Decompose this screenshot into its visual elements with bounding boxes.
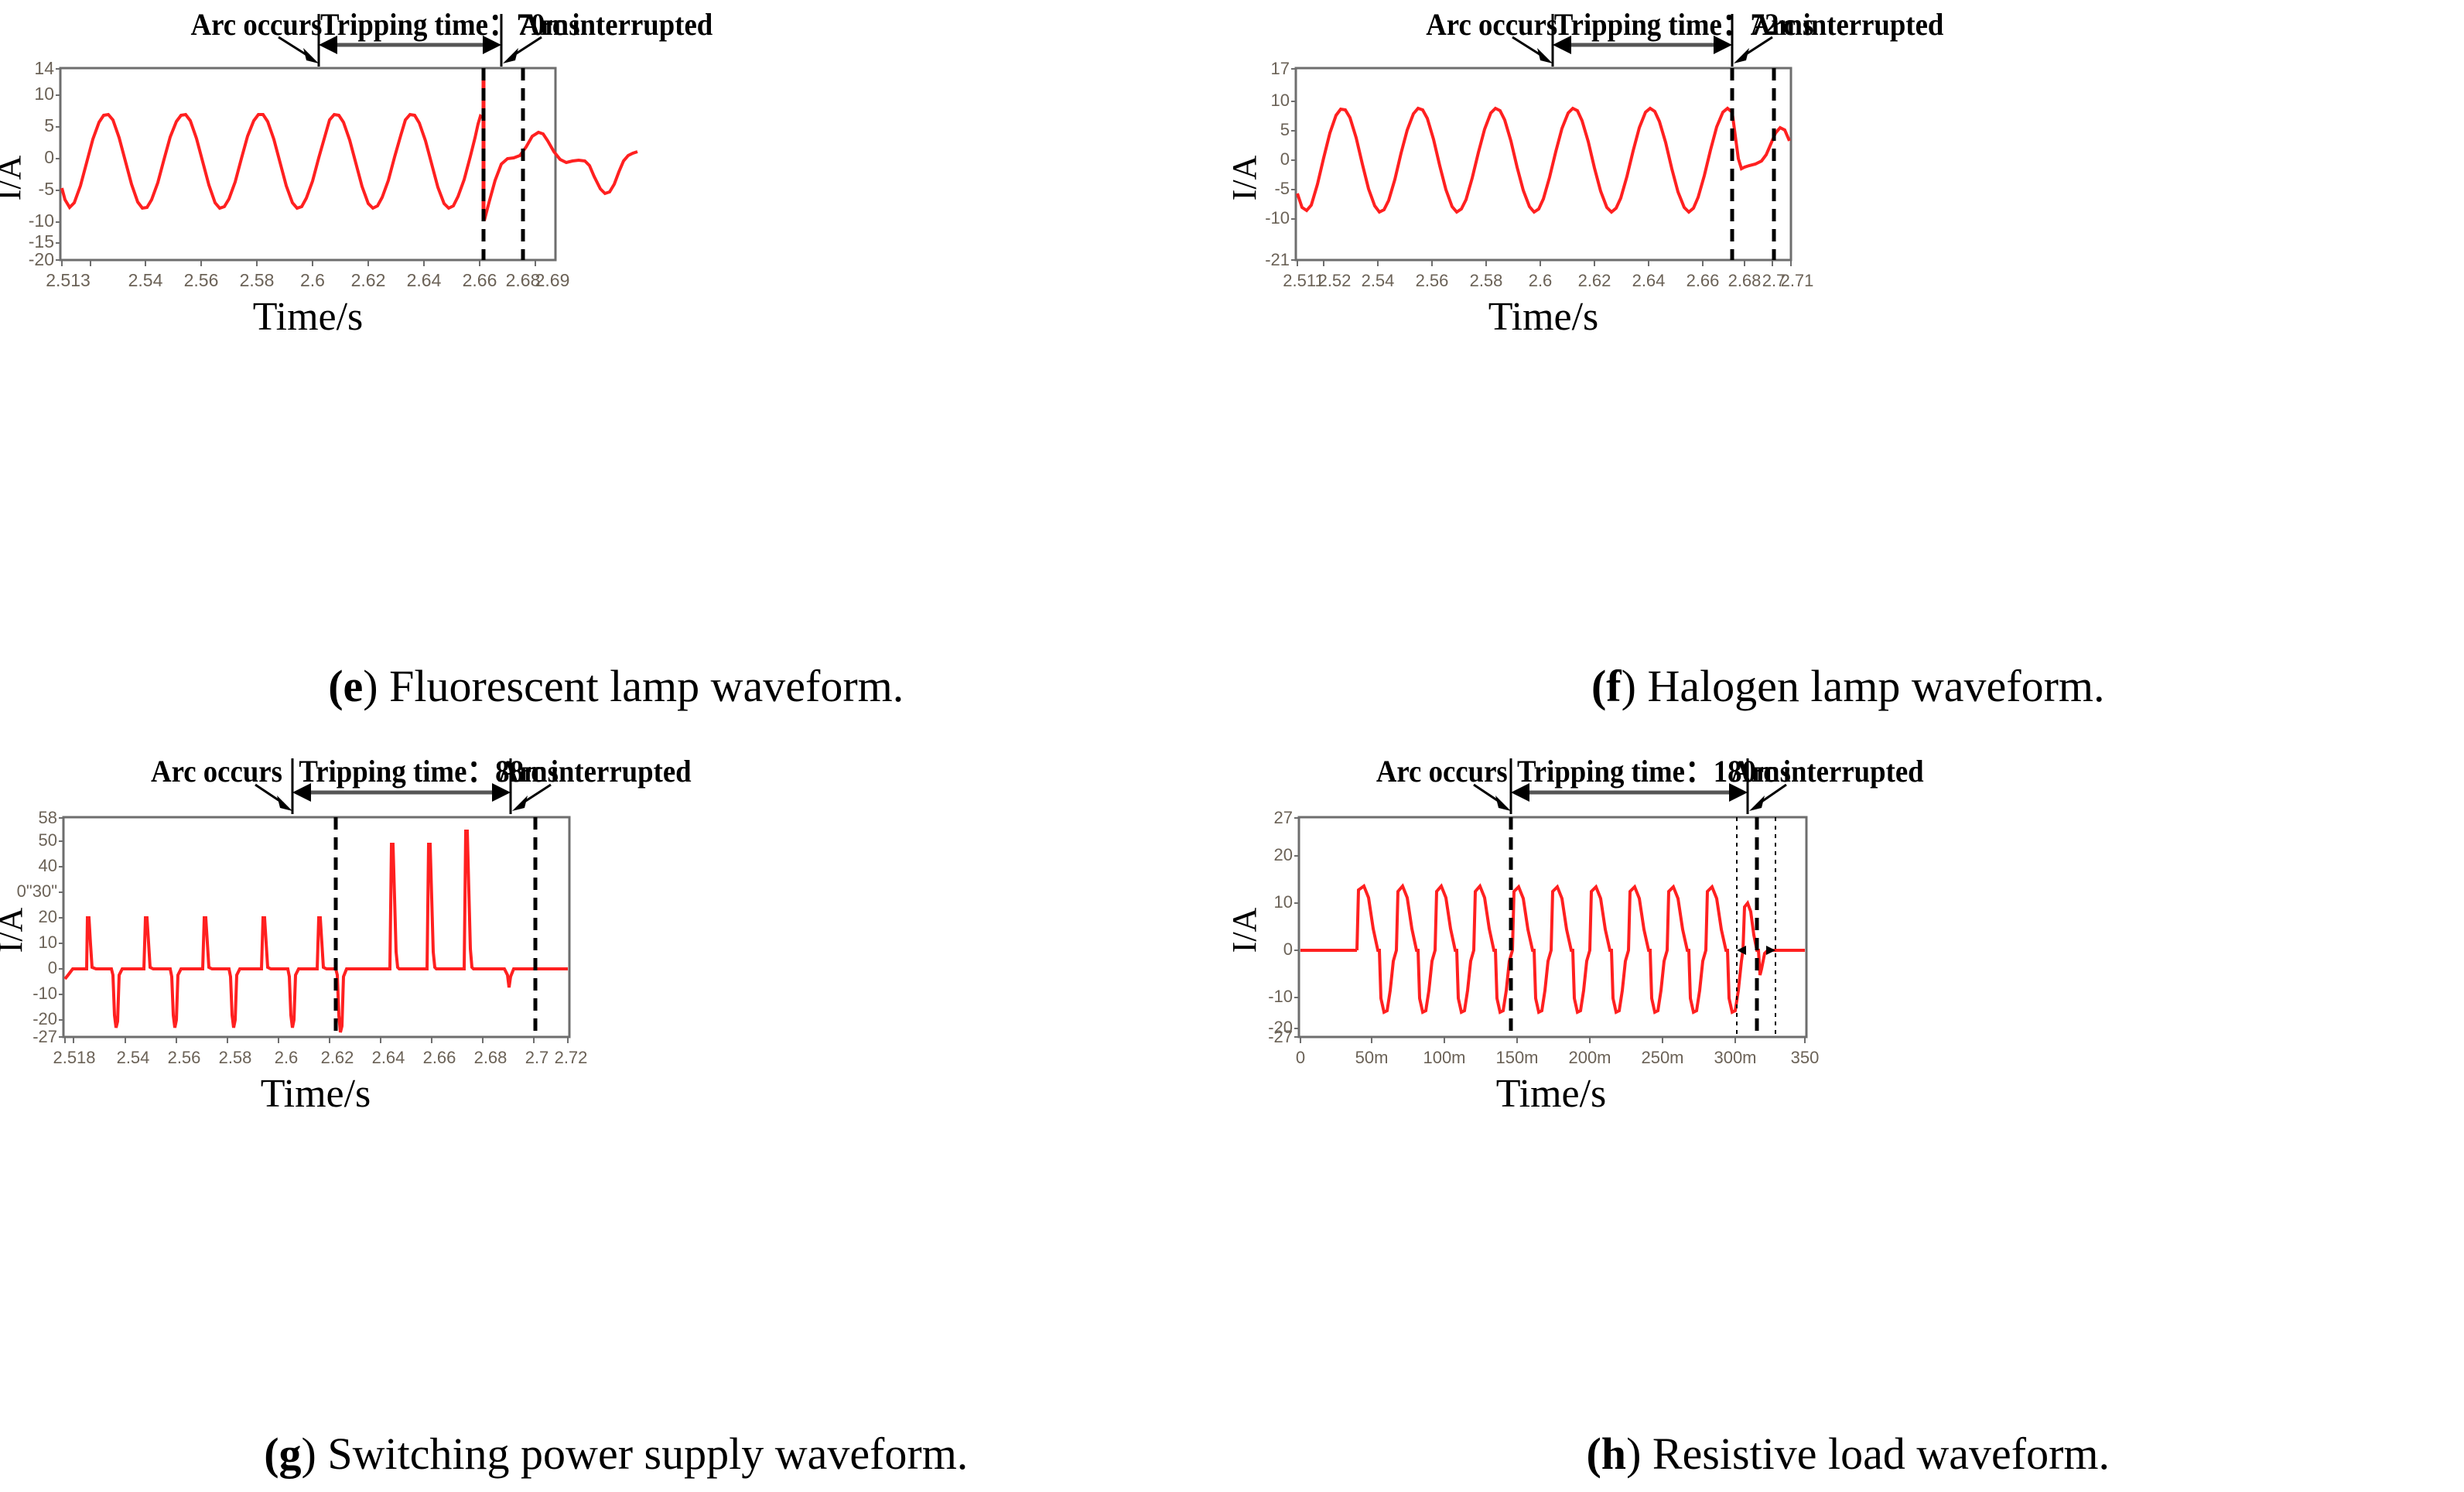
svg-text:-20: -20 bbox=[32, 1009, 57, 1028]
x-ticks-f: 2.5112.52 2.542.56 2.582.6 2.622.64 2.66… bbox=[1283, 271, 1813, 290]
svg-text:0"30": 0"30" bbox=[17, 881, 57, 901]
svg-text:2.64: 2.64 bbox=[1632, 271, 1665, 290]
svg-text:5: 5 bbox=[44, 115, 54, 135]
arc-occurs-arrowhead-g bbox=[277, 796, 292, 811]
svg-text:17: 17 bbox=[1270, 59, 1289, 78]
svg-text:-10: -10 bbox=[32, 984, 57, 1003]
svg-text:2.66: 2.66 bbox=[1686, 271, 1719, 290]
svg-text:0: 0 bbox=[1283, 939, 1292, 959]
plot-frame-g bbox=[63, 817, 569, 1037]
y-axis-label-g: I/A bbox=[0, 907, 29, 953]
x-axis-label-e: Time/s bbox=[253, 295, 364, 339]
svg-text:0: 0 bbox=[44, 147, 54, 167]
svg-text:2.62: 2.62 bbox=[351, 270, 386, 290]
panel-g-plot: Arc occurs Tripping time：88ms Arc interr… bbox=[0, 743, 1232, 1492]
caption-f: (f) Halogen lamp waveform. bbox=[1232, 660, 2464, 712]
svg-text:2.6: 2.6 bbox=[275, 1048, 299, 1067]
svg-text:2.6: 2.6 bbox=[300, 270, 325, 290]
svg-text:-27: -27 bbox=[1268, 1027, 1293, 1046]
y-axis-label-e: I/A bbox=[0, 155, 28, 200]
panel-e-plot: Arc occurs Tripping time：70ms Arc interr… bbox=[0, 0, 1232, 696]
y-axis-label-h: I/A bbox=[1232, 907, 1263, 953]
svg-text:2.58: 2.58 bbox=[1469, 271, 1502, 290]
svg-text:-10: -10 bbox=[1265, 208, 1290, 228]
svg-text:2.54: 2.54 bbox=[117, 1048, 150, 1067]
svg-text:-27: -27 bbox=[32, 1027, 57, 1046]
svg-text:2.68: 2.68 bbox=[474, 1048, 507, 1067]
arc-interrupted-arrowhead-g bbox=[512, 796, 528, 811]
arc-occurs-label-h: Arc occurs bbox=[1376, 755, 1507, 789]
svg-text:2.58: 2.58 bbox=[219, 1048, 252, 1067]
svg-text:2.66: 2.66 bbox=[423, 1048, 456, 1067]
arc-occurs-label-e: Arc occurs bbox=[191, 9, 323, 43]
waveform-trace-g bbox=[65, 831, 568, 1032]
caption-h: (h) Resistive load waveform. bbox=[1232, 1428, 2464, 1480]
svg-text:2.69: 2.69 bbox=[535, 270, 570, 290]
arc-occurs-arrowhead-f bbox=[1537, 48, 1553, 63]
svg-text:2.72: 2.72 bbox=[555, 1048, 588, 1067]
svg-text:-10: -10 bbox=[29, 210, 54, 231]
svg-text:300m: 300m bbox=[1714, 1048, 1756, 1067]
svg-text:2.68: 2.68 bbox=[1728, 271, 1761, 290]
panel-e: Arc occurs Tripping time：70ms Arc interr… bbox=[0, 0, 1232, 743]
arc-interrupted-label-h: Arc interrupted bbox=[1731, 755, 1924, 789]
panel-f: Arc occurs Tripping time：72ms Arc interr… bbox=[1232, 0, 2464, 743]
svg-text:5: 5 bbox=[1280, 120, 1289, 139]
svg-text:200m: 200m bbox=[1568, 1048, 1611, 1067]
svg-text:2.62: 2.62 bbox=[321, 1048, 354, 1067]
svg-text:14: 14 bbox=[34, 58, 54, 78]
arc-occurs-arrowhead-h bbox=[1495, 796, 1511, 811]
svg-text:2.7: 2.7 bbox=[525, 1048, 549, 1067]
svg-text:40: 40 bbox=[39, 856, 57, 875]
svg-text:50m: 50m bbox=[1355, 1048, 1388, 1067]
x-axis-label-f: Time/s bbox=[1488, 295, 1598, 339]
svg-text:27: 27 bbox=[1273, 808, 1292, 827]
svg-text:2.64: 2.64 bbox=[407, 270, 442, 290]
svg-text:100m: 100m bbox=[1423, 1048, 1465, 1067]
arc-occurs-label-f: Arc occurs bbox=[1426, 9, 1557, 43]
y-ticks-h: 27 20 10 0 -10 -20 -27 bbox=[1268, 808, 1293, 1046]
svg-text:2.64: 2.64 bbox=[372, 1048, 405, 1067]
svg-text:0: 0 bbox=[1280, 149, 1289, 169]
svg-text:10: 10 bbox=[1270, 91, 1289, 110]
arc-interrupted-arrowhead-f bbox=[1734, 48, 1749, 63]
x-ticks-h: 050m 100m150m 200m250m 300m350 bbox=[1295, 1048, 1818, 1067]
panel-h-plot: Arc occurs Tripping time：180ms Arc inter… bbox=[1232, 743, 2464, 1492]
y-ticks-f: 17 10 5 0 -5 -10 -21 bbox=[1265, 59, 1290, 269]
svg-text:2.58: 2.58 bbox=[240, 270, 275, 290]
waveform-trace-h bbox=[1300, 886, 1805, 1012]
svg-text:150m: 150m bbox=[1495, 1048, 1538, 1067]
arc-interrupted-label-g: Arc interrupted bbox=[498, 755, 692, 789]
svg-text:2.56: 2.56 bbox=[168, 1048, 201, 1067]
y-axis-label-f: I/A bbox=[1232, 155, 1263, 200]
caption-g: (g) Switching power supply waveform. bbox=[0, 1428, 1232, 1480]
svg-text:2.56: 2.56 bbox=[184, 270, 219, 290]
waveform-trace-f bbox=[1297, 108, 1789, 212]
svg-text:350: 350 bbox=[1790, 1048, 1819, 1067]
svg-text:2.52: 2.52 bbox=[1317, 271, 1351, 290]
panel-f-plot: Arc occurs Tripping time：72ms Arc interr… bbox=[1232, 0, 2464, 696]
svg-text:10: 10 bbox=[39, 932, 57, 952]
svg-text:2.513: 2.513 bbox=[46, 270, 91, 290]
plot-frame-e bbox=[60, 68, 555, 260]
svg-text:2.71: 2.71 bbox=[1780, 271, 1813, 290]
svg-text:-21: -21 bbox=[1265, 250, 1290, 269]
svg-text:10: 10 bbox=[1273, 892, 1292, 912]
svg-text:20: 20 bbox=[1273, 845, 1292, 864]
svg-text:20: 20 bbox=[39, 907, 57, 926]
svg-text:0: 0 bbox=[1295, 1048, 1304, 1067]
svg-text:2.62: 2.62 bbox=[1577, 271, 1611, 290]
svg-text:2.6: 2.6 bbox=[1528, 271, 1552, 290]
panel-g: Arc occurs Tripping time：88ms Arc interr… bbox=[0, 743, 1232, 1492]
svg-text:2.56: 2.56 bbox=[1415, 271, 1448, 290]
svg-text:-5: -5 bbox=[1274, 179, 1290, 198]
arc-occurs-arrowhead-e bbox=[303, 48, 319, 63]
panel-h: Arc occurs Tripping time：180ms Arc inter… bbox=[1232, 743, 2464, 1492]
svg-text:250m: 250m bbox=[1641, 1048, 1683, 1067]
figure-grid: Arc occurs Tripping time：70ms Arc interr… bbox=[0, 0, 2464, 1492]
svg-text:-20: -20 bbox=[29, 249, 54, 269]
x-ticks-g: 2.5182.54 2.562.58 2.62.62 2.642.66 2.68… bbox=[53, 1048, 587, 1067]
waveform-trace-e bbox=[62, 70, 637, 221]
svg-text:10: 10 bbox=[34, 84, 54, 104]
y-ticks-e: 14 10 5 0 -5 -10 -15 -20 bbox=[29, 58, 54, 269]
svg-text:58: 58 bbox=[39, 808, 57, 827]
x-axis-label-h: Time/s bbox=[1495, 1072, 1606, 1116]
x-axis-label-g: Time/s bbox=[261, 1072, 371, 1116]
svg-text:50: 50 bbox=[39, 830, 57, 850]
arc-interrupted-arrowhead-e bbox=[503, 48, 518, 63]
x-ticks-e: 2.5132.54 2.562.58 2.62.62 2.642.66 2.68… bbox=[46, 270, 569, 290]
arc-interrupted-label-f: Arc interrupted bbox=[1750, 9, 1943, 43]
svg-text:-5: -5 bbox=[39, 179, 54, 199]
svg-text:-10: -10 bbox=[1268, 987, 1293, 1006]
svg-text:2.518: 2.518 bbox=[53, 1048, 95, 1067]
plot-frame-f bbox=[1296, 68, 1791, 260]
svg-text:0: 0 bbox=[48, 958, 57, 977]
caption-e: (e) Fluorescent lamp waveform. bbox=[0, 660, 1232, 712]
svg-text:2.54: 2.54 bbox=[128, 270, 163, 290]
arc-occurs-label-g: Arc occurs bbox=[151, 755, 282, 789]
arc-interrupted-arrowhead-h bbox=[1749, 796, 1765, 811]
measure-marker-right-h bbox=[1766, 946, 1775, 955]
arc-interrupted-label-e: Arc interrupted bbox=[520, 9, 713, 43]
svg-text:2.66: 2.66 bbox=[463, 270, 497, 290]
svg-text:2.54: 2.54 bbox=[1361, 271, 1394, 290]
